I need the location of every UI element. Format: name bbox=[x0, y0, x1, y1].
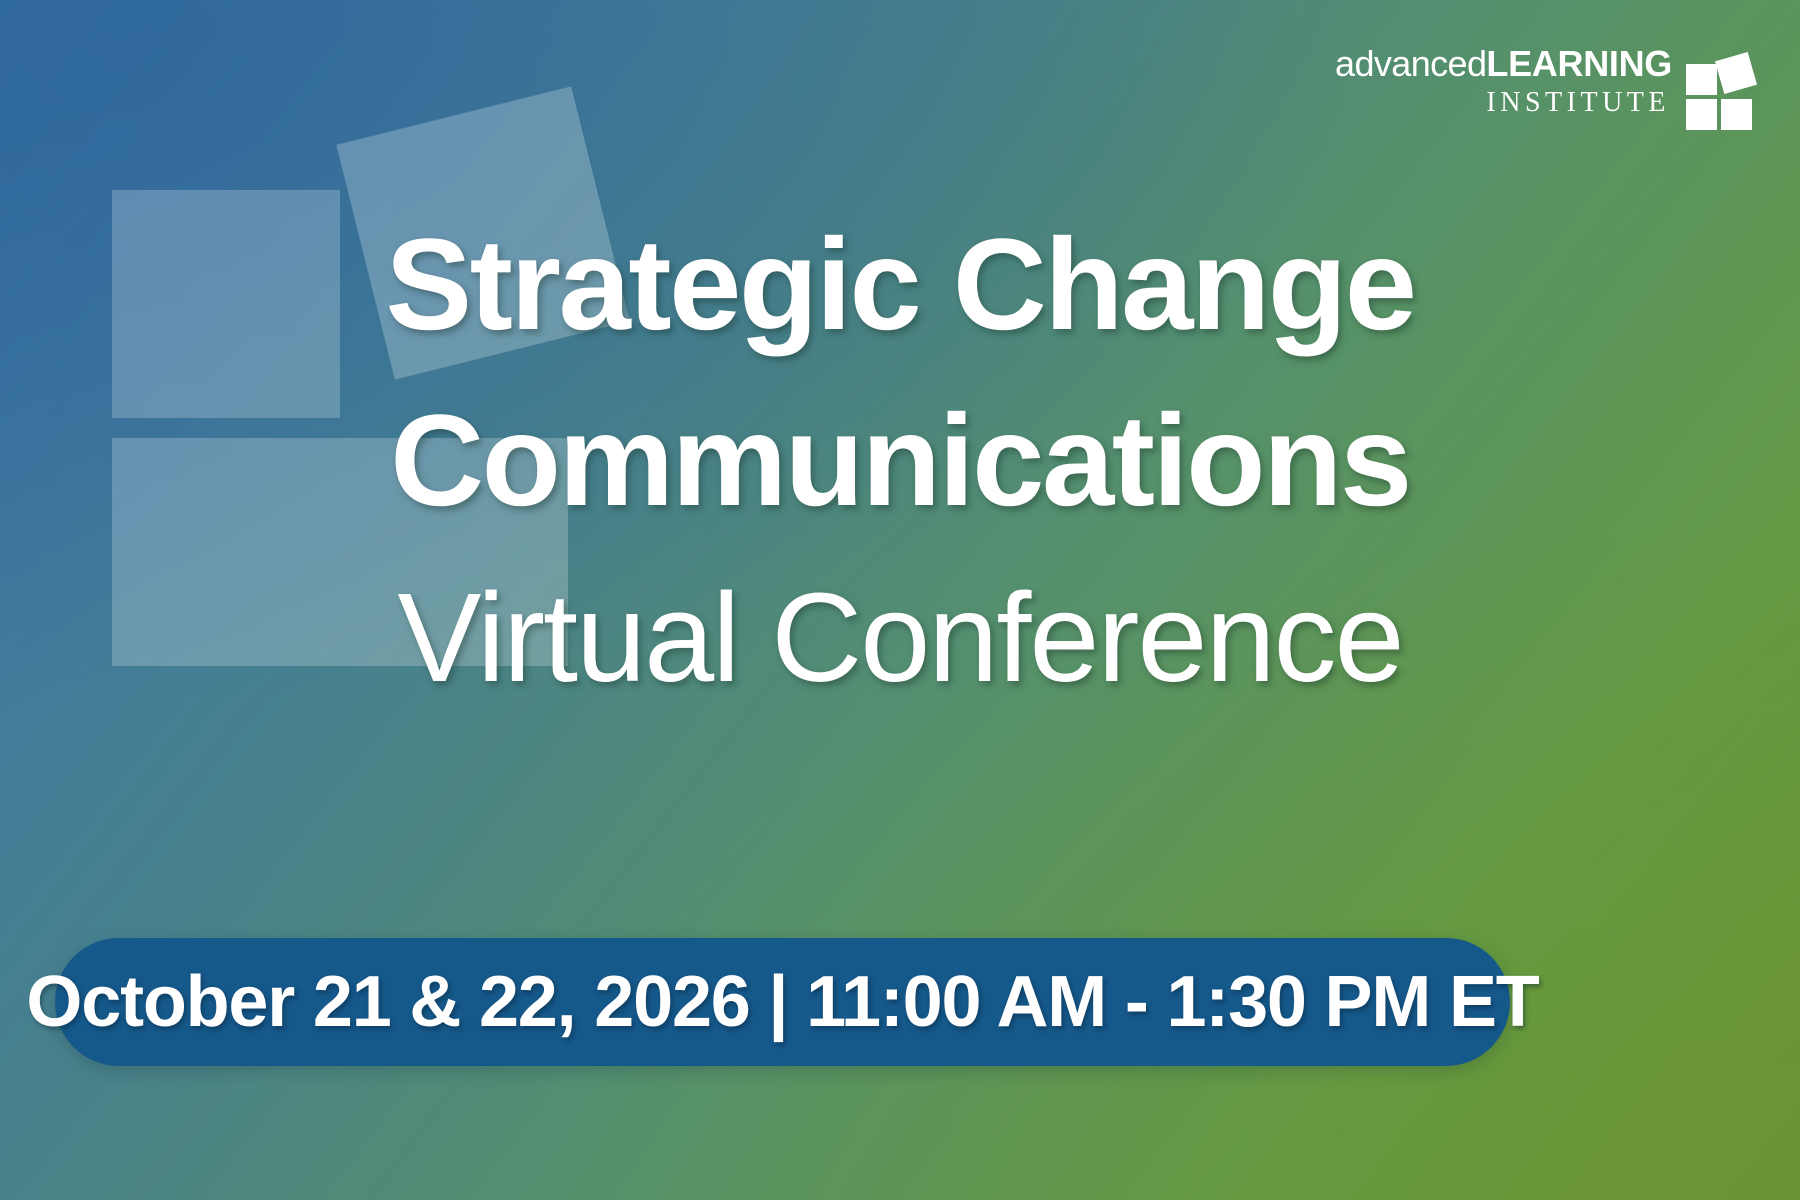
event-date-time-banner: October 21 & 22, 2026 | 11:00 AM - 1:30 … bbox=[55, 938, 1510, 1066]
logo-mark-square-top-left bbox=[1686, 64, 1717, 95]
logo-mark-square-top-right-rotated bbox=[1715, 52, 1757, 94]
page-title: Strategic Change Communications Virtual … bbox=[0, 196, 1800, 728]
logo-wordmark-primary: advancedLEARNING bbox=[1335, 46, 1672, 82]
logo-text-advanced: advanced bbox=[1335, 43, 1486, 84]
event-promo-banner: advancedLEARNING INSTITUTE Strategic Cha… bbox=[0, 0, 1800, 1200]
page-title-line-1: Strategic Change bbox=[70, 196, 1730, 372]
square-grid-logo-mark-icon bbox=[1686, 50, 1758, 124]
logo-wordmark: advancedLEARNING INSTITUTE bbox=[1335, 46, 1672, 117]
page-title-line-3: Virtual Conference bbox=[70, 548, 1730, 728]
logo-text-institute: INSTITUTE bbox=[1486, 89, 1672, 117]
page-title-line-2: Communications bbox=[70, 372, 1730, 548]
advanced-learning-institute-logo: advancedLEARNING INSTITUTE bbox=[1335, 46, 1758, 124]
event-date-time-text: October 21 & 22, 2026 | 11:00 AM - 1:30 … bbox=[26, 961, 1538, 1043]
logo-text-learning: LEARNING bbox=[1486, 43, 1672, 84]
logo-mark-square-bottom-right bbox=[1721, 99, 1752, 130]
logo-mark-square-bottom-left bbox=[1686, 99, 1717, 130]
